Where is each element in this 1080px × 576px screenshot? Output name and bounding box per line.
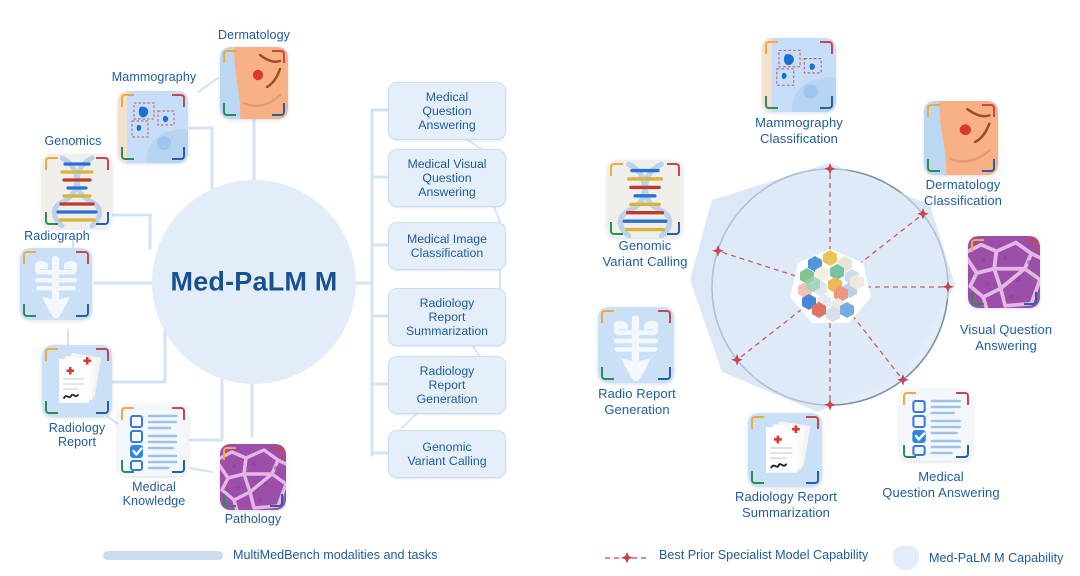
- label-radiograph: Radiograph: [2, 229, 112, 243]
- mammography-icon[interactable]: [118, 91, 188, 163]
- radiology-report-icon[interactable]: [42, 345, 112, 417]
- red-dashed-star-swatch: [605, 550, 649, 560]
- task-medical-question-answering[interactable]: Medical Question Answering: [388, 82, 506, 140]
- genomics-dna-icon[interactable]: [42, 154, 112, 228]
- checklist-icon-right[interactable]: [900, 389, 972, 461]
- checklist-icon[interactable]: [118, 404, 188, 476]
- legend-multimedbench-label: MultiMedBench modalities and tasks: [233, 548, 437, 562]
- legend-best-prior-specialist: Best Prior Specialist Model Capability: [605, 548, 868, 562]
- legend-best-prior-specialist-label: Best Prior Specialist Model Capability: [659, 548, 868, 562]
- task-medical-image-classification[interactable]: Medical Image Classification: [388, 222, 506, 270]
- label-radiology-report-summarization: Radiology Report Summarization: [710, 489, 862, 520]
- label-radio-report-generation: Radio Report Generation: [570, 386, 704, 417]
- label-medical-knowledge: Medical Knowledge: [100, 480, 208, 508]
- legend-bar-swatch: [103, 551, 223, 560]
- chest-xray-icon[interactable]: [20, 248, 92, 320]
- dermatology-icon[interactable]: [220, 47, 288, 119]
- label-pathology: Pathology: [198, 512, 308, 526]
- label-genomics: Genomics: [18, 134, 128, 148]
- task-medical-visual-question-answering[interactable]: Medical Visual Question Answering: [388, 149, 506, 207]
- pathology-tissue-icon-right[interactable]: [968, 236, 1040, 308]
- label-radiology-report: Radiology Report: [22, 421, 132, 449]
- radiology-report-icon-right[interactable]: [748, 413, 822, 487]
- label-medical-question-answering: Medical Question Answering: [861, 469, 1021, 500]
- genomics-dna-icon-right[interactable]: [607, 160, 683, 238]
- mammography-icon-right[interactable]: [762, 38, 836, 112]
- label-mammography-classification: Mammography Classification: [729, 115, 869, 146]
- task-radiology-report-summarization[interactable]: Radiology Report Summarization: [388, 288, 506, 346]
- pathology-tissue-icon[interactable]: [220, 444, 286, 510]
- label-dermatology: Dermatology: [194, 28, 314, 42]
- med-palm-m-center: Med-PaLM M: [152, 180, 356, 384]
- legend-med-palm-m-capability: Med-PaLM M Capability: [893, 546, 1063, 570]
- chest-xray-icon-right[interactable]: [598, 307, 674, 383]
- label-visual-question-answering: Visual Question Answering: [938, 322, 1074, 353]
- label-mammography: Mammography: [92, 70, 216, 84]
- blue-blob-swatch: [893, 546, 919, 570]
- task-radiology-report-generation[interactable]: Radiology Report Generation: [388, 356, 506, 414]
- legend-multimedbench: MultiMedBench modalities and tasks: [103, 548, 437, 562]
- task-genomic-variant-calling[interactable]: Genomic Variant Calling: [388, 430, 506, 478]
- med-palm-m-logo: [790, 248, 871, 326]
- center-label: Med-PaLM M: [152, 267, 356, 298]
- figure-root: Med-PaLM M Dermatology Mammography: [0, 0, 1080, 576]
- dermatology-icon-right[interactable]: [924, 101, 998, 175]
- legend-med-palm-m-capability-label: Med-PaLM M Capability: [929, 551, 1063, 565]
- label-dermatology-classification: Dermatology Classification: [893, 177, 1033, 208]
- label-genomic-variant-calling: Genomic Variant Calling: [575, 238, 715, 269]
